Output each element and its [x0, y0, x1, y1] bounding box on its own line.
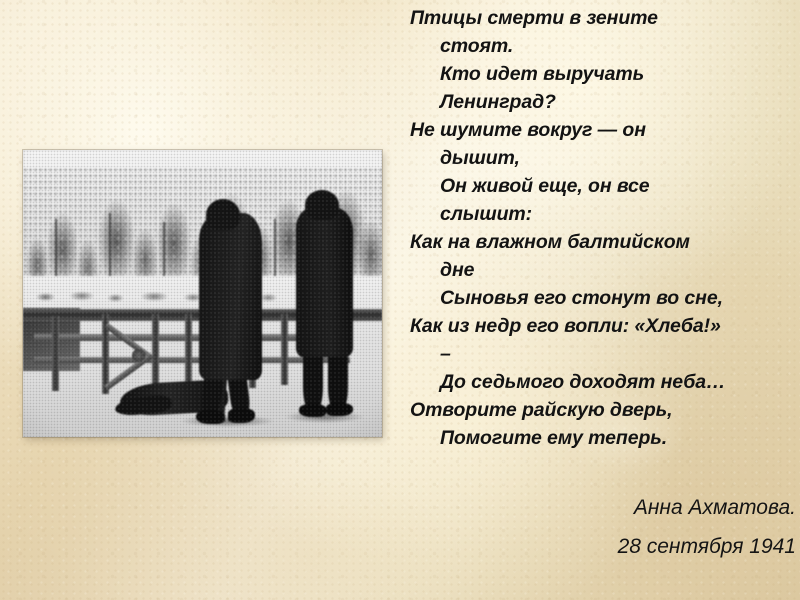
slide-canvas: Птицы смерти в зените стоят. Кто идет вы…	[0, 0, 800, 600]
poem-line: Птицы смерти в зените	[410, 4, 798, 32]
poem-text-block: Птицы смерти в зените стоят. Кто идет вы…	[410, 4, 798, 452]
poem-line: слышит:	[410, 200, 798, 228]
photo-figure-two-coat	[296, 207, 353, 356]
poem-line: До седьмого доходят неба…	[410, 368, 798, 396]
poem-line: Отворите райскую дверь,	[410, 396, 798, 424]
poem-line: –	[410, 340, 798, 368]
photo-railing-post	[52, 316, 59, 391]
photo-figure-one-head	[206, 199, 240, 231]
poem-line: дне	[410, 256, 798, 284]
poem-line: Кто идет выручать	[410, 60, 798, 88]
poem-line: Он живой еще, он все	[410, 172, 798, 200]
poem-author: Анна Ахматова.	[410, 488, 796, 527]
photo-railing-post	[281, 314, 288, 386]
photo-figure-one-boot	[228, 408, 255, 422]
attribution-block: Анна Ахматова. 28 сентября 1941	[410, 488, 800, 566]
photo-figure-two-head	[305, 190, 339, 220]
photo-figure-one-boot	[196, 410, 225, 424]
poem-line: Не шумите вокруг — он	[410, 116, 798, 144]
poem-date: 28 сентября 1941	[410, 527, 796, 566]
poem-line: Помогите ему теперь.	[410, 424, 798, 452]
poem-line: дышит,	[410, 144, 798, 172]
poem-line: Как из недр его вопли: «Хлеба!»	[410, 312, 798, 340]
poem-line: Как на влажном балтийском	[410, 228, 798, 256]
blockade-photo	[23, 150, 382, 437]
poem-line: Сыновья его стонут во сне,	[410, 284, 798, 312]
photo-figure-two-boot	[326, 403, 353, 416]
photo-railing-post	[185, 314, 192, 391]
photo-figure-one-coat	[199, 213, 262, 379]
poem-line: Ленинград?	[410, 88, 798, 116]
poem-line: стоят.	[410, 32, 798, 60]
photo-figure-two-boot	[299, 404, 326, 417]
